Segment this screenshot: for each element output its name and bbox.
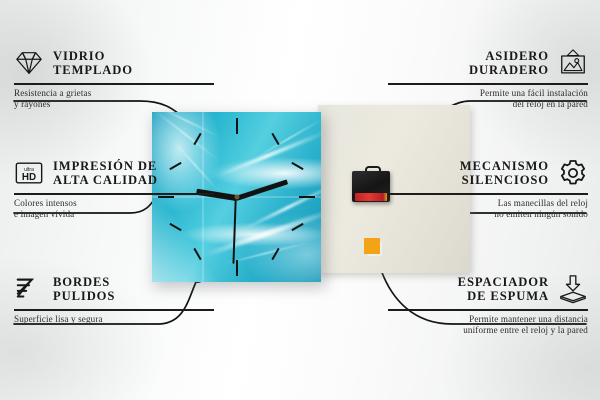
feature-desc-line2: y rayones — [14, 99, 214, 110]
feature-title-line1: IMPRESIÓN DE — [53, 159, 158, 174]
feature-desc-line1: Superficie lisa y segura — [14, 314, 214, 325]
feature-description: Colores intensos e imagen vívida — [14, 198, 214, 221]
feature-divider — [14, 309, 214, 311]
feature-silent-mechanism: MECANISMO SILENCIOSO Las manecillas del … — [388, 156, 588, 220]
feature-header: ESPACIADOR DE ESPUMA — [388, 272, 588, 306]
feature-title-line1: MECANISMO — [460, 159, 549, 174]
feature-divider — [14, 193, 214, 195]
feature-desc-line2: e imagen vívida — [14, 209, 214, 220]
feature-foam-spacer: ESPACIADOR DE ESPUMA Permite mantener un… — [388, 272, 588, 336]
feature-header: ultra HD IMPRESIÓN DE ALTA CALIDAD — [14, 156, 214, 190]
polished-edges-icon — [14, 274, 44, 304]
battery — [355, 193, 387, 201]
clock-mechanism — [352, 166, 390, 202]
feature-title: VIDRIO TEMPLADO — [53, 49, 133, 78]
wall-hanging-frame-icon — [558, 48, 588, 78]
ultra-hd-large-label: HD — [22, 172, 36, 183]
ultra-hd-icon: ultra HD — [14, 158, 44, 188]
diamond-icon — [14, 48, 44, 78]
feature-description: Superficie lisa y segura — [14, 314, 214, 325]
feature-title-line2: DURADERO — [469, 63, 549, 78]
feature-title-line1: BORDES — [53, 275, 115, 290]
feature-title: ASIDERO DURADERO — [469, 49, 549, 78]
feature-title: ESPACIADOR DE ESPUMA — [458, 275, 549, 304]
feature-desc-line2: uniforme entre el reloj y la pared — [388, 325, 588, 336]
gear-icon — [558, 158, 588, 188]
feature-desc-line2: no emiten ningún sonido — [388, 209, 588, 220]
hands-center-cap — [234, 195, 239, 200]
feature-desc-line1: Permite una fácil instalación — [388, 88, 588, 99]
hour-tick-3 — [299, 196, 315, 198]
feature-title-line1: ASIDERO — [469, 49, 549, 64]
feature-divider — [388, 309, 588, 311]
feature-title: MECANISMO SILENCIOSO — [460, 159, 549, 188]
feature-description: Permite mantener una distancia uniforme … — [388, 314, 588, 337]
feature-title-line2: SILENCIOSO — [460, 173, 549, 188]
feature-desc-line2: del reloj en la pared — [388, 99, 588, 110]
feature-title-line2: TEMPLADO — [53, 63, 133, 78]
feature-desc-line1: Las manecillas del reloj — [388, 198, 588, 209]
feature-desc-line1: Colores intensos — [14, 198, 214, 209]
feature-divider — [388, 193, 588, 195]
feature-title: IMPRESIÓN DE ALTA CALIDAD — [53, 159, 158, 188]
mechanism-body — [352, 171, 390, 202]
feature-title: BORDES PULIDOS — [53, 275, 115, 304]
feature-description: Las manecillas del reloj no emiten ningú… — [388, 198, 588, 221]
feature-title-line2: DE ESPUMA — [458, 289, 549, 304]
feature-title-line1: VIDRIO — [53, 49, 133, 64]
feature-description: Resistencia a grietas y rayones — [14, 88, 214, 111]
feature-tempered-glass: VIDRIO TEMPLADO Resistencia a grietas y … — [14, 46, 214, 110]
feature-title-line1: ESPACIADOR — [458, 275, 549, 290]
hour-tick-12 — [236, 118, 238, 134]
feature-title-line2: PULIDOS — [53, 289, 115, 304]
feature-polished-edges: BORDES PULIDOS Superficie lisa y segura — [14, 272, 214, 325]
feature-header: BORDES PULIDOS — [14, 272, 214, 306]
infographic-canvas: VIDRIO TEMPLADO Resistencia a grietas y … — [0, 0, 600, 400]
feature-header: ASIDERO DURADERO — [388, 46, 588, 80]
feature-header: MECANISMO SILENCIOSO — [388, 156, 588, 190]
feature-header: VIDRIO TEMPLADO — [14, 46, 214, 80]
foam-spacer-arrow-icon — [558, 274, 588, 304]
feature-high-quality-print: ultra HD IMPRESIÓN DE ALTA CALIDAD Color… — [14, 156, 214, 220]
feature-desc-line1: Permite mantener una distancia — [388, 314, 588, 325]
feature-divider — [14, 83, 214, 85]
feature-description: Permite una fácil instalación del reloj … — [388, 88, 588, 111]
feature-durable-hanger: ASIDERO DURADERO Permite una fácil insta… — [388, 46, 588, 110]
feature-title-line2: ALTA CALIDAD — [53, 173, 158, 188]
hour-tick-6 — [236, 260, 238, 276]
feature-divider — [388, 83, 588, 85]
feature-desc-line1: Resistencia a grietas — [14, 88, 214, 99]
foam-spacer-pad — [364, 238, 380, 254]
